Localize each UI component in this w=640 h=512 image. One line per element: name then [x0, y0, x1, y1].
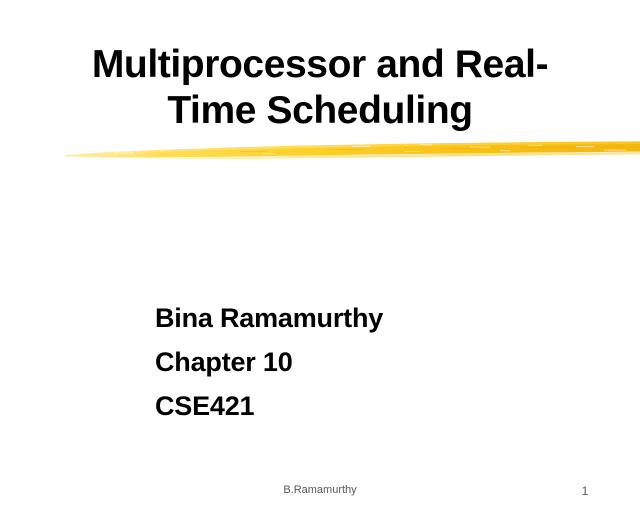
slide-title: Multiprocessor and Real- Time Scheduling [0, 42, 640, 134]
divider-brush-stroke [0, 132, 640, 166]
title-line-2: Time Scheduling [0, 88, 640, 134]
footer-author: B.Ramamurthy [0, 484, 640, 496]
body-line-course: CSE421 [155, 384, 595, 428]
body-line-author: Bina Ramamurthy [155, 296, 595, 340]
body-line-chapter: Chapter 10 [155, 340, 595, 384]
presentation-slide: Multiprocessor and Real- Time Scheduling [0, 0, 640, 512]
title-line-1: Multiprocessor and Real- [0, 42, 640, 88]
footer-page-number: 1 [560, 484, 610, 498]
slide-body: Bina Ramamurthy Chapter 10 CSE421 [155, 296, 595, 428]
